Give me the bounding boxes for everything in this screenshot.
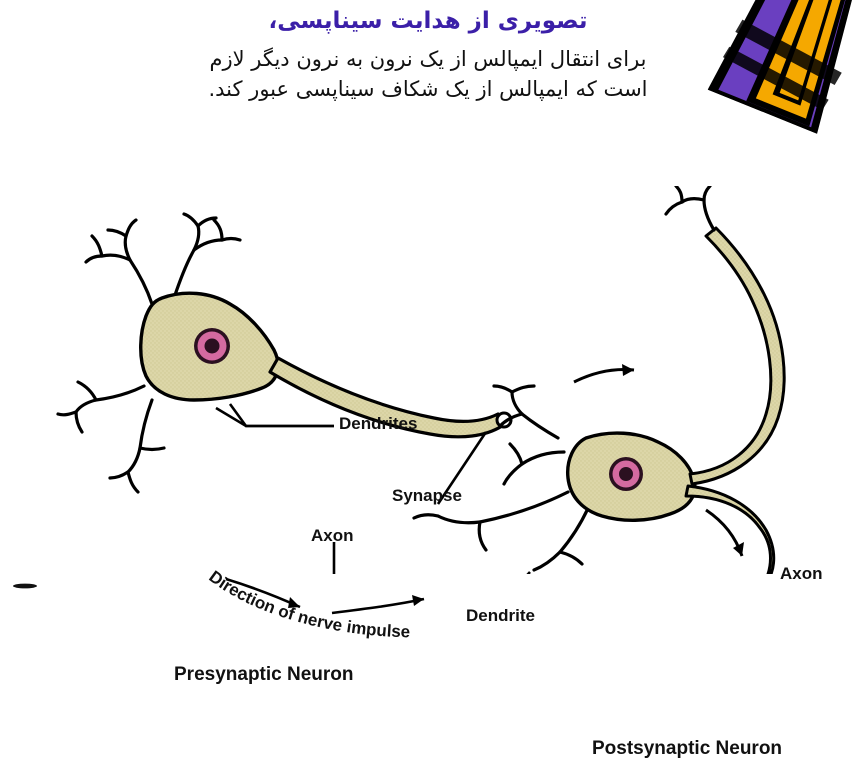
postsynaptic-dendrites-left (494, 386, 564, 484)
label-axon-postsynaptic: Axon (780, 564, 823, 584)
body-paragraph: برای انتقال ایمپالس از یک نرون به نرون د… (0, 44, 856, 105)
bottom-left-mark (8, 574, 42, 592)
label-presynaptic-neuron: Presynaptic Neuron (174, 664, 354, 686)
postsynaptic-axon-rise (690, 228, 784, 484)
postsynaptic-terminal-branches (666, 186, 714, 230)
presynaptic-nucleus (194, 328, 230, 364)
label-direction-of-nerve-impulse: Direction of nerve impulse (204, 561, 504, 641)
label-postsynaptic-neuron: Postsynaptic Neuron (592, 738, 782, 760)
direction-text: Direction of nerve impulse (206, 567, 411, 641)
presynaptic-neuron (58, 214, 511, 492)
postsynaptic-nucleus (609, 457, 643, 491)
postsynaptic-neuron (414, 186, 784, 574)
svg-text:Direction of nerve impulse: Direction of nerve impulse (206, 567, 411, 641)
dendrite-branches-upper (86, 214, 240, 304)
leader-lines (216, 404, 824, 574)
page-title: تصویری از هدایت سیناپسی، (0, 8, 856, 36)
dendrite-branches-lower (58, 382, 164, 492)
neuron-drawing (34, 186, 824, 574)
body-line-1: برای انتقال ایمپالس از یک نرون به نرون د… (0, 44, 856, 74)
label-axon-presynaptic: Axon (311, 526, 354, 546)
label-dendrites: Dendrites (339, 414, 417, 434)
label-synapse: Synapse (392, 486, 462, 506)
body-line-2: است که ایمپالس از یک شکاف سیناپسی عبور ک… (0, 74, 856, 104)
synapse-diagram: Dendrites Synapse Axon Dendrite Axon Pre… (34, 186, 824, 574)
